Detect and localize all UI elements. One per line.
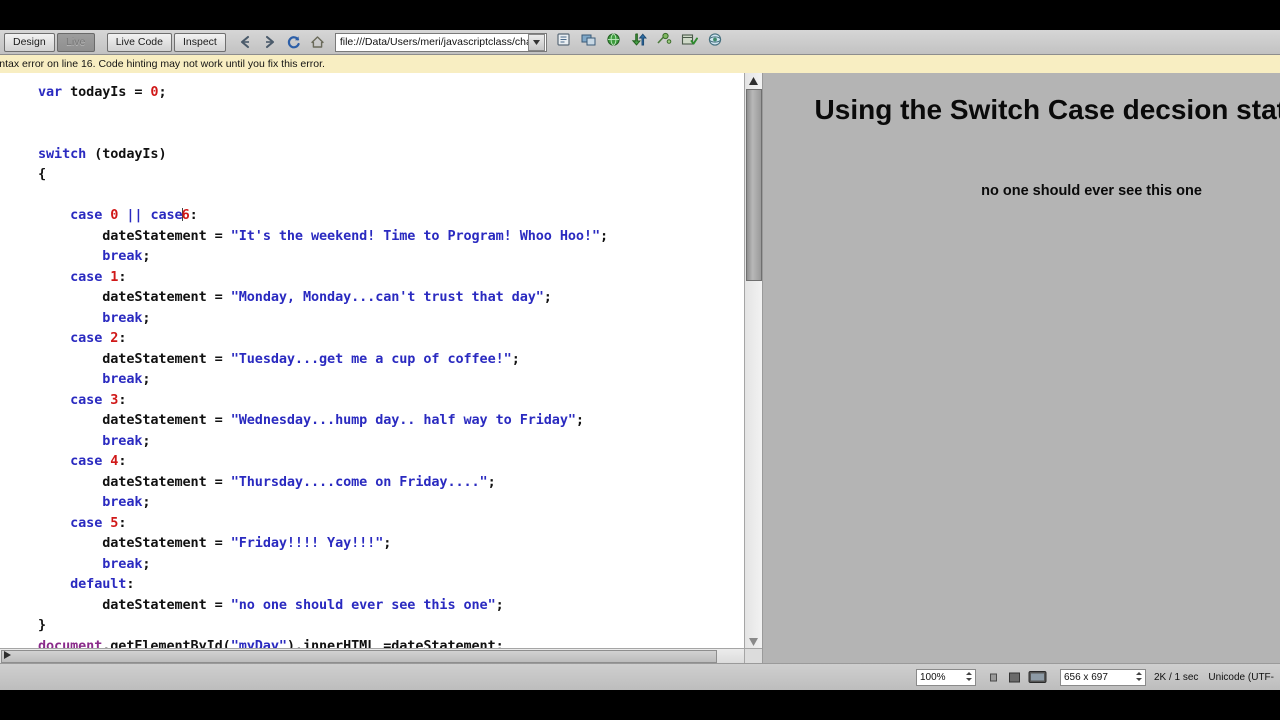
live-preview-pane[interactable]: Using the Switch Case decsion statement …	[763, 73, 1280, 663]
multiscreen-preview-icon[interactable]	[581, 32, 597, 52]
window-size-control[interactable]: 656 x 697	[1060, 669, 1146, 686]
home-icon[interactable]	[310, 35, 325, 49]
live-code-button[interactable]: Live Code	[107, 33, 172, 52]
medium-screen-icon[interactable]	[1007, 670, 1022, 684]
refresh-icon[interactable]	[286, 35, 301, 49]
address-bar-value: file:///Data/Users/meri/javascriptclass/…	[336, 36, 528, 48]
scroll-up-arrow-icon[interactable]	[745, 73, 761, 88]
code-horizontal-scrollbar[interactable]	[0, 648, 745, 663]
zoom-level: 100%	[920, 672, 946, 683]
code-navigation-icon[interactable]	[656, 32, 672, 52]
source-code[interactable]: var todayIs = 0; switch (todayIs) { case…	[0, 73, 745, 649]
stepper-icon[interactable]	[966, 668, 972, 686]
preview-heading: Using the Switch Case decsion statement	[763, 91, 1280, 128]
live-view-button[interactable]: Live	[57, 33, 95, 52]
stepper-icon[interactable]	[1136, 668, 1142, 686]
scroll-right-arrow-icon[interactable]	[0, 649, 14, 661]
zoom-control[interactable]: 100%	[916, 669, 976, 686]
code-scroll-area[interactable]: var todayIs = 0; switch (todayIs) { case…	[0, 73, 745, 649]
small-screen-icon[interactable]	[986, 670, 1001, 684]
address-bar[interactable]: file:///Data/Users/meri/javascriptclass/…	[335, 33, 547, 52]
encoding-label: Unicode (UTF-	[1208, 672, 1274, 683]
code-vertical-scroll-thumb[interactable]	[746, 89, 762, 281]
split-view: var todayIs = 0; switch (todayIs) { case…	[0, 73, 1280, 663]
code-horizontal-scroll-thumb[interactable]	[1, 650, 717, 663]
server-debug-icon[interactable]	[556, 32, 572, 52]
status-bar: 100% 656 x 697 2K / 1 sec Unicode (UTF-	[0, 663, 1280, 690]
refresh-design-view-icon[interactable]	[707, 32, 723, 52]
code-view-pane[interactable]: var todayIs = 0; switch (todayIs) { case…	[0, 73, 763, 663]
scrollbar-corner	[744, 648, 762, 663]
scroll-down-arrow-icon[interactable]	[745, 634, 761, 649]
syntax-error-bar: yntax error on line 16. Code hinting may…	[0, 55, 1280, 74]
forward-arrow-icon[interactable]	[262, 35, 277, 49]
inspect-button[interactable]: Inspect	[174, 33, 226, 52]
dreamweaver-window: Design Live Live Code Inspect file:///Da…	[0, 30, 1280, 690]
design-view-button[interactable]: Design	[4, 33, 55, 52]
syntax-error-message: yntax error on line 16. Code hinting may…	[0, 58, 325, 70]
chevron-down-icon[interactable]	[528, 34, 545, 51]
preview-in-browser-icon[interactable]	[606, 32, 622, 52]
file-management-icon[interactable]	[631, 32, 647, 52]
window-size-value: 656 x 697	[1064, 672, 1108, 683]
document-toolbar: Design Live Live Code Inspect file:///Da…	[0, 30, 1280, 55]
download-size: 2K / 1 sec	[1154, 672, 1198, 683]
visual-aids-icon[interactable]	[681, 32, 698, 52]
large-screen-icon[interactable]	[1028, 670, 1048, 684]
code-vertical-scrollbar[interactable]	[744, 73, 762, 649]
preview-paragraph: no one should ever see this one	[763, 183, 1280, 199]
back-arrow-icon[interactable]	[238, 35, 253, 49]
toolbar-icon-group	[556, 32, 723, 52]
navigation-icons	[238, 35, 325, 49]
